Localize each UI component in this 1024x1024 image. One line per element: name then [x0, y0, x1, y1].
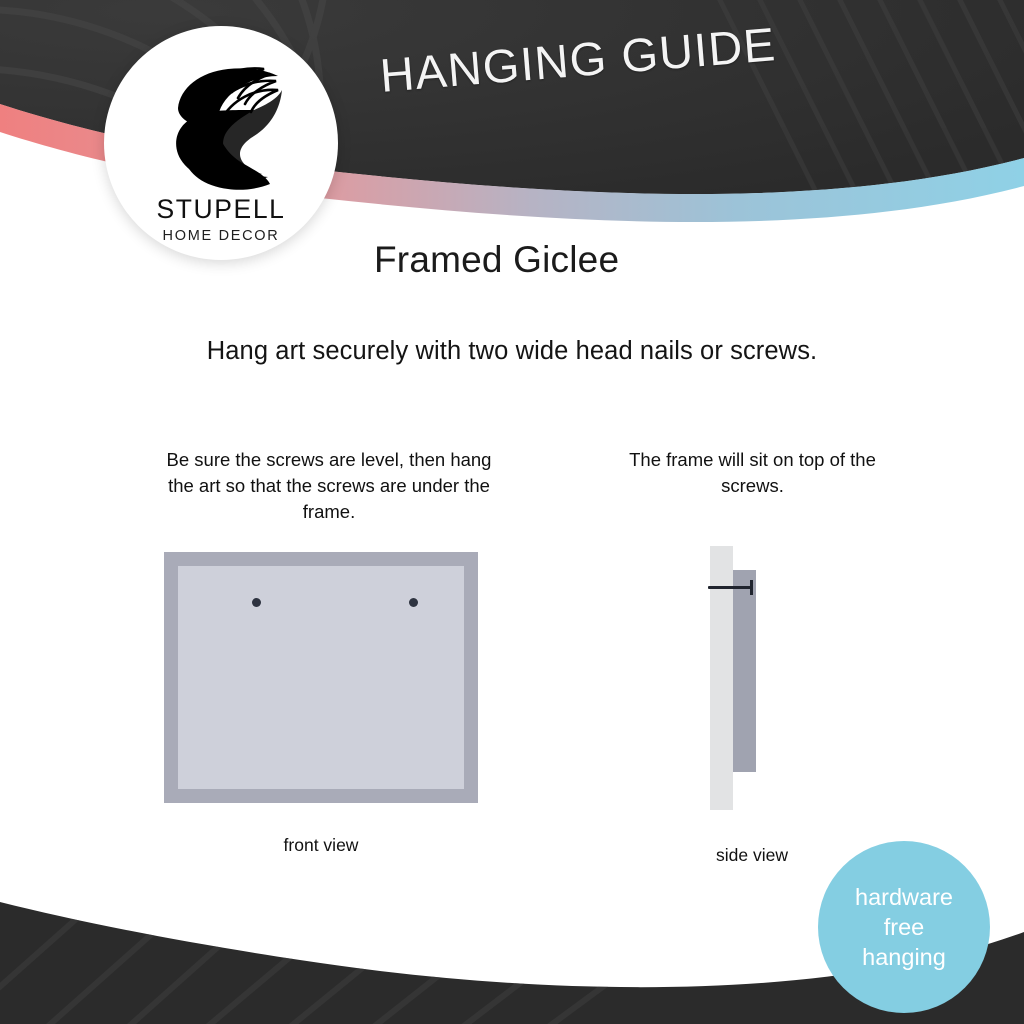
brand-name: STUPELL	[156, 194, 285, 225]
front-view-diagram	[164, 552, 478, 803]
side-view-label: side view	[668, 845, 836, 866]
nail-head-icon	[750, 580, 753, 595]
badge-line-1: hardware	[855, 882, 953, 912]
nail-shaft-icon	[708, 586, 752, 589]
side-view-caption: The frame will sit on top of the screws.	[600, 447, 905, 499]
hardware-free-hanging-badge: hardware free hanging	[818, 841, 990, 1013]
brand-logo-badge: STUPELL HOME DECOR	[104, 26, 338, 260]
front-view-label: front view	[164, 835, 478, 856]
brand-tagline: HOME DECOR	[163, 228, 280, 244]
badge-line-2: free	[884, 912, 925, 942]
screw-dot-right-icon	[409, 598, 418, 607]
stupell-swoosh-logo-icon	[158, 52, 284, 192]
front-view-artwork-area	[178, 566, 464, 789]
hanging-guide-page: HANGING GUIDE STUPELL HOME DECOR Framed …	[0, 0, 1024, 1024]
page-title: HANGING GUIDE	[378, 8, 881, 103]
main-instruction-text: Hang art securely with two wide head nai…	[0, 337, 1024, 366]
badge-line-3: hanging	[862, 942, 946, 972]
product-type-label: Framed Giclee	[374, 239, 619, 281]
front-view-caption: Be sure the screws are level, then hang …	[155, 447, 503, 525]
side-view-diagram	[710, 546, 794, 810]
frame-strip	[733, 570, 756, 772]
screw-dot-left-icon	[252, 598, 261, 607]
